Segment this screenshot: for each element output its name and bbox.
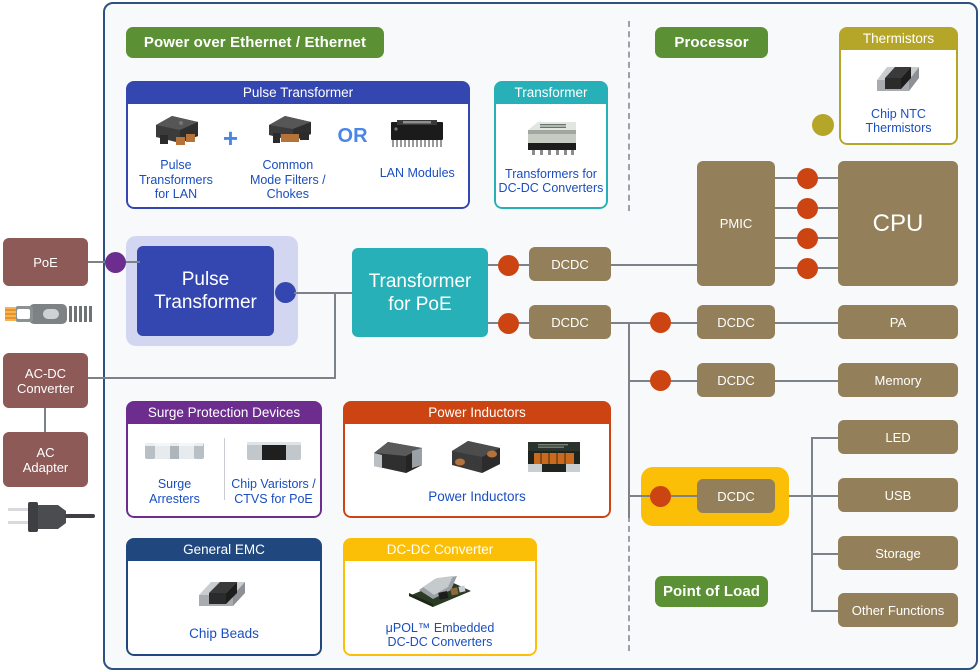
- block-acdc-converter[interactable]: AC-DC Converter: [3, 353, 88, 408]
- pill-processor[interactable]: Processor: [655, 27, 768, 58]
- product-transformers-for-dcdc[interactable]: Transformers for DC-DC Converters: [498, 116, 604, 196]
- product-chip-beads[interactable]: Chip Beads: [149, 573, 299, 642]
- card-thermistors-header: Thermistors: [839, 27, 958, 50]
- pill-point-of-load[interactable]: Point of Load: [655, 576, 768, 607]
- surge-arrester-icon: [139, 434, 211, 473]
- wire-pulse-to-transformer-poe: [294, 292, 352, 294]
- card-dcdc-converter[interactable]: DC-DC Converter μPOL™ Embedded DC-DC Con…: [343, 538, 537, 656]
- card-pulse-transformer[interactable]: Pulse Transformer: [126, 81, 470, 209]
- block-ac-adapter-label: AC Adapter: [23, 445, 69, 475]
- product-lan-modules[interactable]: LAN Modules: [373, 109, 462, 181]
- block-led[interactable]: LED: [838, 420, 958, 454]
- card-dcdc-converter-body: μPOL™ Embedded DC-DC Converters: [343, 561, 537, 656]
- card-general-emc-body: Chip Beads: [126, 561, 322, 656]
- chip-varistor-icon: [243, 434, 305, 473]
- red-node-dot-pol: [650, 486, 671, 507]
- product-caption: Transformers for DC-DC Converters: [499, 167, 604, 196]
- pill-point-of-load-label: Point of Load: [663, 583, 760, 600]
- card-power-inductors-caption: Power Inductors: [428, 490, 526, 505]
- card-transformer[interactable]: Transformer: [494, 81, 608, 209]
- wire-power-bus-vertical: [628, 322, 630, 518]
- power-inductor-molded-icon: [444, 435, 506, 484]
- red-node-dot-rail-2: [797, 198, 818, 219]
- wire-fanout-to-led: [811, 437, 838, 439]
- wire-acdc-riser: [334, 292, 336, 379]
- section-divider-dashed-top: [628, 21, 630, 211]
- block-dcdc-1[interactable]: DCDC: [529, 247, 611, 281]
- pill-processor-label: Processor: [674, 34, 748, 51]
- product-surge-arresters[interactable]: Surge Arresters: [129, 434, 221, 506]
- blue-node-dot: [275, 282, 296, 303]
- wire-fanout-to-other: [811, 610, 838, 612]
- wire-dcdc-pa-to-pa: [775, 322, 838, 324]
- pill-poe-ethernet[interactable]: Power over Ethernet / Ethernet: [126, 27, 384, 58]
- block-dcdc-memory-label: DCDC: [717, 373, 755, 388]
- product-caption: LAN Modules: [380, 166, 455, 181]
- wire-dcdc-memory-to-memory: [775, 380, 838, 382]
- wire-fanout-vertical: [811, 438, 813, 611]
- card-pulse-transformer-body: Pulse Transformers for LAN +: [126, 104, 470, 209]
- red-node-dot-rail-1: [797, 168, 818, 189]
- chip-bead-icon: [193, 573, 255, 620]
- block-dcdc-memory[interactable]: DCDC: [697, 363, 775, 397]
- block-dcdc-pol-label: DCDC: [717, 489, 755, 504]
- block-storage[interactable]: Storage: [838, 536, 958, 570]
- block-acdc-converter-label: AC-DC Converter: [17, 366, 74, 396]
- section-divider-dashed-bottom: [628, 516, 630, 651]
- product-chip-varistors[interactable]: Chip Varistors / CTVS for PoE: [228, 434, 320, 506]
- lan-module-ic-icon: [383, 117, 451, 156]
- block-pulse-transformer-label: Pulse Transformer: [154, 268, 257, 314]
- pill-poe-ethernet-label: Power over Ethernet / Ethernet: [144, 34, 366, 51]
- card-thermistors[interactable]: Thermistors Chip NTC Thermistors: [839, 27, 958, 145]
- block-dcdc-1-label: DCDC: [551, 257, 589, 272]
- card-thermistors-body: Chip NTC Thermistors: [839, 50, 958, 145]
- product-chip-ntc-thermistors[interactable]: Chip NTC Thermistors: [843, 58, 955, 136]
- card-transformer-header: Transformer: [494, 81, 608, 104]
- block-memory-label: Memory: [875, 373, 922, 388]
- card-dcdc-converter-header: DC-DC Converter: [343, 538, 537, 561]
- block-cpu-label: CPU: [873, 210, 924, 238]
- block-pmic[interactable]: PMIC: [697, 161, 775, 286]
- block-pa[interactable]: PA: [838, 305, 958, 339]
- block-dcdc-2-label: DCDC: [551, 315, 589, 330]
- wire-fanout-to-storage: [811, 553, 838, 555]
- power-inductor-shielded-icon: [368, 435, 428, 484]
- block-transformer-for-poe[interactable]: Transformer for PoE: [352, 248, 488, 337]
- product-caption: Common Mode Filters / Chokes: [250, 158, 326, 202]
- olive-node-dot: [812, 114, 834, 136]
- block-other-functions-label: Other Functions: [852, 603, 945, 618]
- block-pulse-transformer[interactable]: Pulse Transformer: [137, 246, 274, 336]
- block-storage-label: Storage: [875, 546, 921, 561]
- product-caption: Chip Beads: [189, 627, 259, 642]
- wire-acdc-feed: [88, 377, 336, 379]
- product-caption: Chip Varistors / CTVS for PoE: [231, 477, 316, 506]
- card-power-inductors-body: Power Inductors: [343, 424, 611, 518]
- block-cpu[interactable]: CPU: [838, 161, 958, 286]
- card-pulse-transformer-header: Pulse Transformer: [126, 81, 470, 104]
- product-caption: Chip NTC Thermistors: [866, 107, 932, 136]
- card-surge-protection-header: Surge Protection Devices: [126, 401, 322, 424]
- product-common-mode-filters[interactable]: Common Mode Filters / Chokes: [243, 109, 332, 202]
- product-pulse-transformers-for-lan[interactable]: Pulse Transformers for LAN: [134, 109, 218, 202]
- card-general-emc-header: General EMC: [126, 538, 322, 561]
- block-pa-label: PA: [890, 315, 906, 330]
- wire-dcdc1-to-pmic: [611, 264, 699, 266]
- purple-node-dot: [105, 252, 126, 273]
- card-surge-protection[interactable]: Surge Protection Devices Surge Arresters: [126, 401, 322, 518]
- red-node-dot-rail-3: [797, 228, 818, 249]
- red-node-dot-rail-4: [797, 258, 818, 279]
- block-poe[interactable]: PoE: [3, 238, 88, 286]
- block-dcdc-pol[interactable]: DCDC: [697, 479, 775, 513]
- wire-acdc-to-adapter: [44, 408, 46, 432]
- card-general-emc[interactable]: General EMC Chip Beads: [126, 538, 322, 656]
- product-caption: μPOL™ Embedded DC-DC Converters: [386, 621, 495, 650]
- block-led-label: LED: [885, 430, 910, 445]
- rj45-ethernet-cable-icon: [3, 297, 98, 331]
- dcdc-transformer-icon: [520, 116, 582, 163]
- block-poe-label: PoE: [33, 255, 58, 270]
- card-inner-divider: [224, 438, 225, 500]
- red-node-dot-dcdc2: [498, 313, 519, 334]
- block-ac-adapter[interactable]: AC Adapter: [3, 432, 88, 487]
- red-node-dot-memory: [650, 370, 671, 391]
- diagram-canvas: PoE AC-DC Converter AC Adapte: [0, 0, 980, 672]
- block-pmic-label: PMIC: [720, 216, 753, 231]
- upol-module-icon: [401, 566, 479, 617]
- card-surge-protection-body: Surge Arresters Chip Varistors / CTVS fo…: [126, 424, 322, 518]
- operator-or: OR: [338, 109, 368, 148]
- block-memory[interactable]: Memory: [838, 363, 958, 397]
- wire-dcdc-pol-to-fanout: [789, 495, 838, 497]
- block-dcdc-2[interactable]: DCDC: [529, 305, 611, 339]
- block-usb[interactable]: USB: [838, 478, 958, 512]
- product-caption: Pulse Transformers for LAN: [139, 158, 213, 202]
- card-transformer-body: Transformers for DC-DC Converters: [494, 104, 608, 209]
- block-other-functions[interactable]: Other Functions: [838, 593, 958, 627]
- common-mode-choke-chip-icon: [259, 109, 317, 154]
- red-node-dot-dcdc1: [498, 255, 519, 276]
- block-dcdc-pa[interactable]: DCDC: [697, 305, 775, 339]
- block-dcdc-pa-label: DCDC: [717, 315, 755, 330]
- card-power-inductors-header: Power Inductors: [343, 401, 611, 424]
- product-caption: Surge Arresters: [149, 477, 200, 506]
- power-inductor-wirewound-icon: [522, 435, 586, 484]
- block-usb-label: USB: [885, 488, 912, 503]
- pulse-transformer-chip-icon: [148, 109, 204, 154]
- product-upol-dcdc-converters[interactable]: μPOL™ Embedded DC-DC Converters: [350, 566, 530, 650]
- chip-ntc-thermistor-icon: [871, 58, 927, 103]
- block-transformer-for-poe-label: Transformer for PoE: [369, 270, 472, 316]
- red-node-dot-pa: [650, 312, 671, 333]
- operator-plus: +: [223, 109, 238, 154]
- ac-power-plug-icon: [8, 497, 100, 537]
- card-power-inductors[interactable]: Power Inductors: [343, 401, 611, 518]
